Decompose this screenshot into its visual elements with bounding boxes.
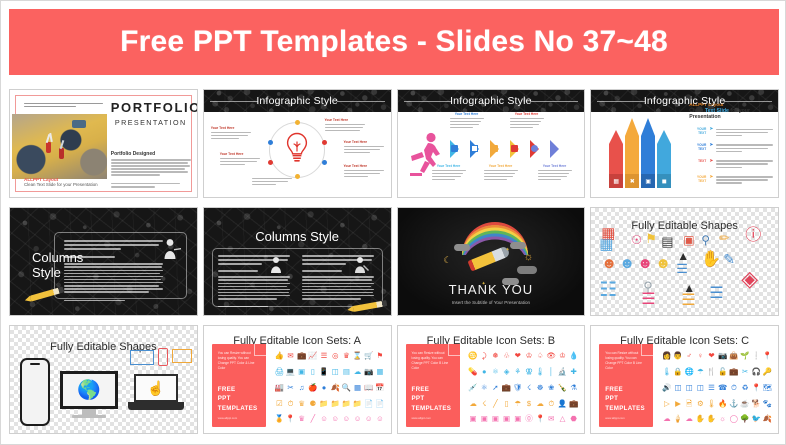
laptop-icon: 💻 [286,368,295,376]
tools-icon: ✖ [630,178,635,185]
icon-grid: ♋ ⤸ ❅ ♧ ❤ ♔ ♤ 👁 ♔ 💧 💊 ● ⚛ ◈ ⚘ ⚢ 🌡 [468,348,580,427]
card-corner-fold [254,344,266,356]
slide-thumbnail-fully-editable-icon-sets-c[interactable]: Fully Editable Icon Sets: C You can Resi… [590,325,779,434]
paw-icon: 🐾 [763,400,772,408]
ice-cream-icon: 🍦 [673,415,682,423]
columns-body [302,276,374,299]
chart-icon: 📈 [308,352,317,360]
chat-icon: ◼ [662,178,667,185]
globe-icon: 🌐 [685,368,694,376]
columns-text-block [64,238,163,303]
books-stack-icon: ☰ [676,262,688,275]
male-symbol-icon: ♂ [686,352,692,360]
twitter-icon: ▣ [503,415,510,423]
smile-icon: ☺ [376,415,384,423]
gear-icon: ⚙ [697,400,704,408]
cup-icon: ♛ [298,415,305,423]
circle-node-dot [268,160,273,165]
chevron-right-icon: ➤ [709,159,713,164]
man-icon: 👨 [673,352,682,360]
columns-body [64,263,163,292]
arrow-item: TEXT ➤ [689,159,774,170]
portfolio-title: PORTFOLIO [111,100,191,115]
cup-icon: ☕ [740,400,749,408]
scissors-icon: ✂ [287,384,293,392]
columns-body [218,276,290,299]
pencil-icon: ✏ [719,232,729,244]
dollar-icon: $ [527,400,531,408]
smile-icon: ☺ [354,415,362,423]
chevron-step [550,140,559,158]
hex-icon: ⬣ [570,415,577,423]
slide-thumbnail-columns-style-one-column[interactable]: Columns Style [9,207,198,316]
arrow-ribbon: ▣ [641,118,655,188]
chalk-title-band: Infographic Style [398,90,585,112]
free-ppt-templates-card: You can Resize without losing quality. Y… [599,344,653,427]
circle-node-text: Your Text Here [325,118,365,133]
cart-icon: 🛒 [364,352,373,360]
vaccine-icon: 💉 [468,384,477,392]
info-icon: ⓘ [745,228,761,244]
projector-icon: ▦ [376,368,383,376]
camera-icon: 📷 [364,368,373,376]
kidney-icon: ❅ [492,352,498,360]
server-icon: ▤ [343,368,350,376]
card-url: www.allppt.com [218,416,237,420]
thermometer-icon: 🌡 [707,400,717,408]
image-icon: 🖻 [686,400,692,408]
globe-icon: 🌎 [77,381,101,400]
drop-icon: 💧 [569,352,578,360]
card-corner-fold [448,344,460,356]
folder-icon: 📁 [319,400,328,408]
liver-icon: ♧ [503,352,510,360]
shield-icon: 🛡 [513,384,523,392]
plant-icon: 🌱 [740,352,749,360]
monitor-icon: ▣ [645,178,651,185]
circle-node-text: Your Text Here [344,140,384,155]
stethoscope-icon: ☇ [482,400,486,408]
award-icon: 🏅 [275,415,284,423]
spoon-icon: 🍴 [707,368,716,376]
hand-icon: ✋ [707,415,716,423]
video-icon: ▶ [675,400,681,408]
cloud-icon: ☁ [354,368,362,376]
chevron-node-text: Your Text Here [432,164,466,182]
cloud-icon: ☁ [685,415,693,423]
magnifier-icon: ⚲ [701,234,710,246]
presenter-icon [163,238,183,265]
circle-node-dot [322,140,327,145]
folder-icon: 📁 [342,400,351,408]
columns-title: Columns Style [204,228,391,246]
hourglass-icon: ⌛ [353,352,362,360]
chevron-node-text: Your Text Here [450,112,484,130]
slide-thumbnail-fully-editable-shapes-education[interactable]: Fully Editable Shapes ▦ ▦ ☉ ⚑ ▤ ▣ ⚲ ✏ ⓘ … [590,207,779,316]
leaf-icon: 🍂 [763,415,772,423]
music-icon: ♫ [299,384,305,392]
smile-icon: ☺ [343,415,351,423]
headphones-icon: 🎧 [752,368,761,376]
cursor-hand-icon: ☝ [147,381,164,395]
printer-icon: 🖨 [275,368,285,376]
virus-icon: ⚛ [492,368,499,376]
battery-icon: ◫ [697,384,704,392]
check-box-icon: ☑ [276,400,283,408]
card-big-text: FREE PPT TEMPLATES [605,385,645,413]
card-url: www.allppt.com [412,416,431,420]
thank-you-title: THANK YOU [398,282,585,297]
arrow-ribbon: ◼ [657,130,671,188]
chat-icon: ✉ [548,415,554,423]
youtube-icon: ▣ [514,415,521,423]
woman-icon: 👩 [662,352,671,360]
signal-icon: ☰ [708,384,715,392]
teacher-icon [354,256,370,279]
student-avatar-icon: ☻ [601,256,617,271]
bag-icon: 👜 [729,352,738,360]
arrow-item-list: YOUR TEXT ➤ YOUR TEXT ➤ [689,127,774,186]
at-icon: ⓪ [525,415,533,423]
star-icon: ✦ [506,248,510,253]
chalk-title-band: Infographic Style [204,90,391,112]
books-stack-icon: ☰ [681,293,695,309]
mail-icon: ✉ [287,352,293,360]
tooth-icon: ♔ [526,352,533,360]
step-icon [451,145,458,152]
free-ppt-templates-card: You can Resize without losing quality. Y… [406,344,460,427]
blackboard-icon: ▤ [661,235,673,248]
smile-icon: ☺ [331,415,339,423]
chevron-node-text: Your Text Here [484,164,518,182]
thank-you-subtitle: Insert the Subtitle of Your Presentation [398,300,585,305]
chevron-right-icon: ➤ [709,143,713,148]
heart-icon: ❤ [515,352,521,360]
clock-icon: ⏱ [288,400,294,408]
pen-icon: ╱ [311,415,316,423]
linkedin-icon: ▣ [470,415,477,423]
slide-thumbnail-fully-editable-icon-sets-a[interactable]: Fully Editable Icon Sets: A You can Resi… [203,325,392,434]
laptop-outline-icon [130,350,154,365]
cloud-icon [510,242,526,249]
lamp-icon: ☁ [469,400,477,408]
battery-icon: ◫ [686,384,693,392]
eye-icon: 👁 [547,352,557,360]
monitor-outline-icon [172,349,192,363]
laptop-icon: ☝ [128,374,184,418]
moon-icon: ☾ [444,256,452,265]
pin-icon: 📍 [752,384,761,392]
circle-node-dot [295,120,300,125]
books-stack-icon: ☰ [641,292,655,308]
megaphone-icon: ☉ [631,234,642,246]
books-stack-icon: ☰ [709,286,723,302]
slide-title: Infographic Style [644,95,726,107]
briefcase-icon: 💼 [569,400,578,408]
slide-thumbnail-fully-editable-icon-sets-b[interactable]: Fully Editable Icon Sets: B You can Resi… [397,325,586,434]
atom-icon: ⚛ [481,384,488,392]
cloud-icon: ☁ [663,415,671,423]
stomach-icon: ♤ [537,352,544,360]
instagram-icon: ▣ [481,415,488,423]
card-big-text: FREE PPT TEMPLATES [412,385,452,413]
search-icon: 🔍 [342,384,351,392]
arrow-item: YOUR TEXT ➤ [689,127,774,138]
apple-icon: 🍎 [308,384,317,392]
chevron-node-text: Your Text Here [510,112,544,130]
columns-subheading [302,270,342,272]
brain-icon: ◈ [504,368,510,376]
file-icon: 📄 [364,400,373,408]
syringe-icon: ➚ [492,384,498,392]
free-ppt-templates-card: You can Resize without losing quality. Y… [212,344,266,427]
arrow-ribbon: ✖ [625,118,639,188]
pin-icon: 📍 [286,415,295,423]
umbrella-icon: ☂ [514,400,521,408]
desktop-monitor-icon: 🌎 [60,371,118,419]
cloud-icon [454,244,470,251]
recycle-icon: ♻ [742,384,749,392]
blocks-icon: ▦ [599,237,613,252]
circle-node-text [252,176,292,187]
target-icon: ◎ [332,352,339,360]
timer-icon: ⏱ [731,384,737,392]
card-big-text: FREE PPT TEMPLATES [218,385,258,413]
bird-icon: 🐦 [752,415,761,423]
pill-icon: 💊 [468,368,477,376]
student-avatar-icon: ☻ [619,256,635,271]
leaf-icon: 🍂 [331,384,340,392]
chevron-right-icon: ➤ [709,175,713,180]
briefcase-icon: 💼 [297,352,306,360]
slide-thumbnail-infographic-style-up-arrow[interactable]: Infographic Style ▦ ✖ [590,89,779,198]
slide-title: Infographic Style [450,95,532,107]
thumbs-up-icon: 👍 [275,352,284,360]
bandage-icon: ⚘ [514,368,521,376]
student-avatar-icon: ☻ [637,256,653,271]
circle-node-text: Your Text Here [344,164,384,179]
lightbulb-icon [284,132,310,167]
factory-icon: 🏭 [275,384,284,392]
cloud-icon [517,266,537,274]
capsule-icon: ● [482,368,487,376]
thermometer-icon: 🌡 [662,368,672,376]
unlock-icon: 🔓 [718,368,727,376]
portfolio-subtitle: PRESENTATION [111,118,191,127]
hand-icon: ✋ [696,415,705,423]
smartphone-icon [20,358,50,426]
slide-thumbnail-thank-you[interactable]: ☼ ☾ ✦ ✦ THANK YOU Insert the Subtitle of… [397,207,586,316]
id-card-icon: ▣ [683,234,694,246]
book-icon: 📖 [364,384,373,392]
play-circle-icon: ▷ [664,400,670,408]
step-icon [531,145,538,152]
portfolio-header-lorem [24,101,114,109]
alert-icon: ❕ [752,352,761,360]
monitor-icon: ▣ [298,368,305,376]
slide-title: Infographic Style [256,95,338,107]
arrow-item: YOUR TEXT ➤ [689,175,774,186]
sitting-student-icon: ✋ [701,252,721,268]
female-symbol-icon: ♀ [698,352,704,360]
slide-thumbnail-infographic-style-arrows[interactable]: Infographic Style [397,89,586,198]
chevron-node-text: Your Text Here [538,164,572,182]
circle-node-dot [268,140,273,145]
brain-head-icon: ◈ [741,268,758,290]
scissors-icon: ✂ [742,368,748,376]
camera-icon: 📷 [718,352,727,360]
circle-icon: ◯ [730,415,738,423]
folder-icon: 📁 [331,400,340,408]
lock-icon: 🔒 [673,368,682,376]
circle-diagram [269,122,325,178]
thermometer-icon: 🌡 [535,368,545,376]
key-icon: 🔑 [763,368,772,376]
portfolio-heading-block: PORTFOLIO PRESENTATION Portfolio Designe… [111,100,191,189]
timer-icon: ⚈ [309,400,316,408]
wheel-icon: ☸ [537,384,544,392]
circle-node-dot [295,174,300,179]
bottle-icon: 🍾 [558,384,567,392]
columns-subheading [218,270,258,272]
chevron-right-icon: ➤ [709,127,713,132]
circle-node-text: Your Text Here [220,152,260,167]
up-arrow-diagram: ▦ ✖ ▣ [607,116,685,194]
portfolio-footer-text: Clean Text Slide for your Presentation [24,182,98,187]
facebook-icon: ▣ [492,415,499,423]
circle-node-text: Your Text Here [211,126,251,141]
step-icon [491,145,498,152]
arrow-item: YOUR TEXT ➤ [689,143,774,154]
template-preview-page: Free PPT Templates - Slides No 37~48 [0,0,786,445]
medal-icon: ⚑ [377,352,384,360]
columns-footer-note [64,300,125,302]
arrow-text-column: ALLPPT Layout Clean Text Slide for your … [689,102,774,186]
columns-footer-note [218,306,268,308]
anchor-icon: ⚓ [729,400,738,408]
portfolio-body-lorem [111,159,191,176]
portfolio-note-lorem [111,183,191,188]
lightbulb-icon: ⚑ [645,232,657,245]
phone-outline-icon [158,348,168,366]
columns-subheading [64,256,115,258]
slide-thumbnail-columns-style-two-columns[interactable]: Columns Style [203,207,392,316]
header-banner-title: Free PPT Templates - Slides No 37~48 [120,25,668,59]
tablet-icon: ▯ [311,368,315,376]
slide-thumbnail-grid: PORTFOLIO PRESENTATION Portfolio Designe… [9,89,779,434]
trophy-icon: ♛ [343,352,350,360]
battery-icon: ◫ [332,368,339,376]
stethoscope-icon: ☇ [527,384,531,392]
step-icon [511,145,518,152]
wifi-icon: ☰ [321,352,328,360]
microscope-icon: 🔬 [558,368,567,376]
portfolio-footer: ALLPPT Layout Clean Text Slide for your … [24,177,98,187]
bag-icon: 💼 [502,384,511,392]
slide-thumbnail-infographic-style-circle[interactable]: Infographic Style [203,89,392,198]
clock-icon: ⏱ [548,400,554,408]
sun-icon: ☼ [524,252,534,263]
flask-icon: ⚗ [570,384,577,392]
smile-icon: ☺ [365,415,373,423]
smile-icon: ☺ [320,415,328,423]
map-icon: 🗺 [763,384,773,392]
dna-icon: ⚢ [525,368,533,376]
card-url: www.allppt.com [605,416,624,420]
reading-child-icon: ☷ [599,280,617,300]
chart-icon: ▦ [613,178,619,185]
columns-heading [64,240,163,250]
arrow-ribbon: ▦ [609,130,623,188]
umbrella-icon: ☂ [697,368,704,376]
slide-thumbnail-fully-editable-shapes-devices[interactable]: Fully Editable Shapes 🌎 ☝ [9,325,198,434]
briefcase-icon: 💼 [729,368,738,376]
dog-icon: 🐕 [752,400,761,408]
calendar-icon: 📅 [375,384,384,392]
cloud-icon: ☁ [536,400,544,408]
card-corner-fold [641,344,653,356]
pin-icon: 📍 [535,415,544,423]
header-banner: Free PPT Templates - Slides No 37~48 [9,9,779,75]
step-icon [471,145,478,152]
card-icon: ▯ [505,400,509,408]
test-tube-icon: │ [549,368,554,376]
paint-icon: ✎ [723,252,735,266]
lungs-icon: ♋ [468,352,477,360]
shapes-title-wrap: Fully Editable Shapes [10,337,197,355]
tooth-icon: ♔ [559,352,566,360]
icon-grid: 👩 👨 ♂ ♀ ❤ 📷 👜 🌱 ❕ 📍 🌡 🔒 🌐 ☂ 🍴 🔓 [661,348,773,427]
trophy-icon: ♛ [298,400,305,408]
battery-icon: ◫ [674,384,681,392]
user-icon: 👤 [558,400,567,408]
portfolio-section-heading: Portfolio Designed [111,151,191,157]
triangle-icon: △ [560,415,566,423]
pen-icon: ╱ [493,400,498,408]
icon-grid: 👍 ✉ 💼 📈 ☰ ◎ ♛ ⌛ 🛒 ⚑ 🖨 💻 ▣ ▯ 📱 ◫ [274,348,386,427]
cross-icon: ✚ [571,368,577,376]
grid-icon: ▦ [354,384,361,392]
portfolio-photo [12,114,107,179]
bone-icon: ⤸ [482,352,487,360]
phone-icon: ☎ [718,384,727,392]
cookie-icon: ● [322,384,327,392]
heart-icon: ❤ [708,352,714,360]
presenter-icon [270,256,286,279]
slide-thumbnail-portfolio-presentation[interactable]: PORTFOLIO PRESENTATION Portfolio Designe… [9,89,198,198]
circle-node-dot [322,160,327,165]
pin-icon: 📍 [763,352,772,360]
folder-icon: 📁 [353,400,362,408]
file-icon: 📄 [375,400,384,408]
arrow-headline: Clean Text Slide for your Presentation [689,108,774,120]
ribbon-icon: ❀ [548,384,554,392]
sun-icon: ☼ [719,415,726,423]
speaker-icon: 🔊 [662,384,671,392]
student-avatar-icon: ☻ [655,256,671,271]
phone-icon: 📱 [319,368,328,376]
fire-icon: 🔥 [718,400,727,408]
tree-icon: 🌳 [740,415,749,423]
